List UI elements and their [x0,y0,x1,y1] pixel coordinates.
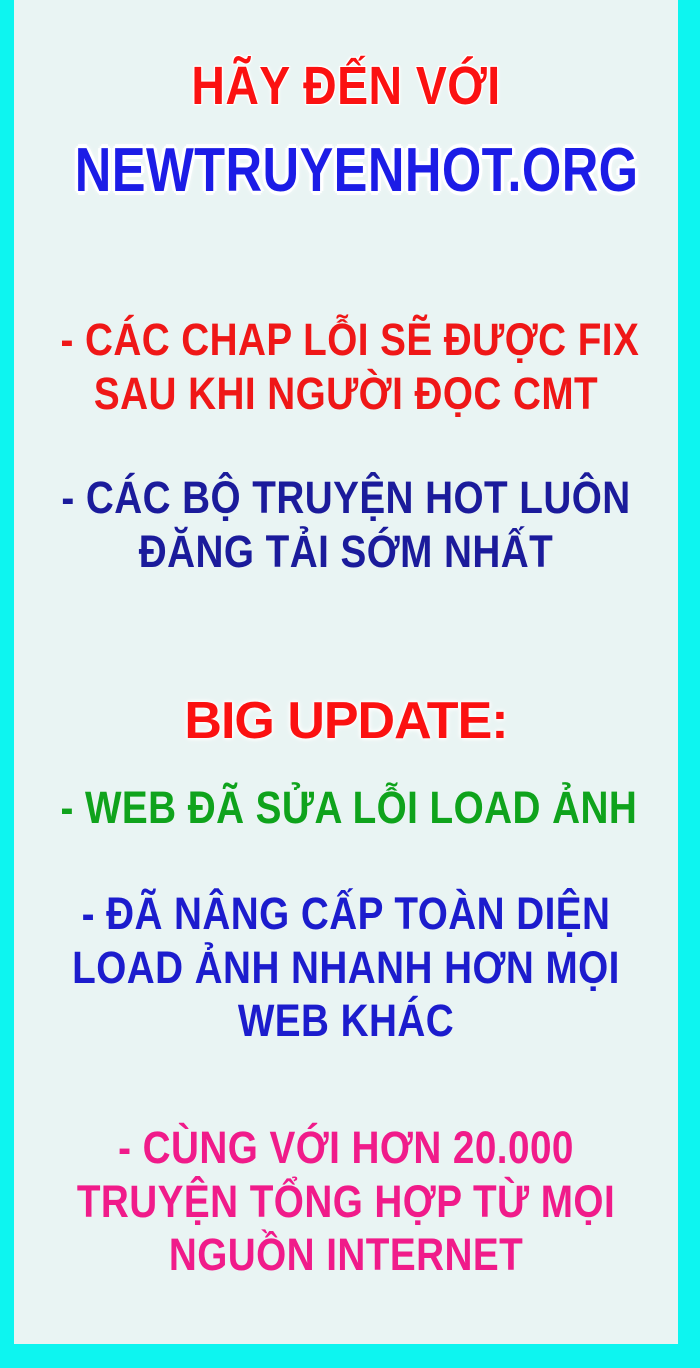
section-full-upgrade-line-2: LOAD ẢNH NHANH HƠN MỌI [60,944,631,992]
section-story-count: - CÙNG VỚI HƠN 20.000 TRUYỆN TỔNG HỢP TỪ… [14,1124,678,1279]
section-story-count-line-1: - CÙNG VỚI HƠN 20.000 [60,1124,631,1172]
section-hot-series-line-2: ĐĂNG TẢI SỚM NHẤT [60,528,631,576]
section-story-count-line-2: TRUYỆN TỔNG HỢP TỪ MỌI [60,1178,631,1226]
section-hot-series: - CÁC BỘ TRUYỆN HOT LUÔN ĐĂNG TẢI SỚM NH… [14,474,678,575]
headline-primary: HÃY ĐẾN VỚI [14,58,678,115]
section-full-upgrade-line-3: WEB KHÁC [60,997,631,1045]
headline-primary-line: HÃY ĐẾN VỚI [60,58,631,115]
site-url-headline[interactable]: NEWTRUYENHOT.ORG [31,138,662,204]
section-image-load-fixed: - WEB ĐÃ SỬA LỖI LOAD ẢNH [14,784,678,832]
section-full-upgrade-line-1: - ĐÃ NÂNG CẤP TOÀN DIỆN [60,890,631,938]
section-image-load-fixed-line-1: - WEB ĐÃ SỬA LỖI LOAD ẢNH [60,784,631,832]
section-hot-series-line-1: - CÁC BỘ TRUYỆN HOT LUÔN [60,474,631,522]
section-story-count-line-3: NGUỒN INTERNET [60,1231,631,1279]
section-fix-notice-line-2: SAU KHI NGƯỜI ĐỌC CMT [60,370,631,418]
section-big-update-title: BIG UPDATE: [14,694,678,749]
promo-banner: HÃY ĐẾN VỚI NEWTRUYENHOT.ORG - CÁC CHAP … [0,0,700,1368]
section-fix-notice-line-1: - CÁC CHAP LỖI SẼ ĐƯỢC FIX [60,316,631,364]
section-full-upgrade: - ĐÃ NÂNG CẤP TOÀN DIỆN LOAD ẢNH NHANH H… [14,890,678,1045]
big-update-title-text: BIG UPDATE: [14,694,678,749]
banner-canvas: HÃY ĐẾN VỚI NEWTRUYENHOT.ORG - CÁC CHAP … [14,0,678,1344]
section-fix-notice: - CÁC CHAP LỖI SẼ ĐƯỢC FIX SAU KHI NGƯỜI… [14,316,678,417]
site-url-text: NEWTRUYENHOT.ORG [75,138,617,204]
